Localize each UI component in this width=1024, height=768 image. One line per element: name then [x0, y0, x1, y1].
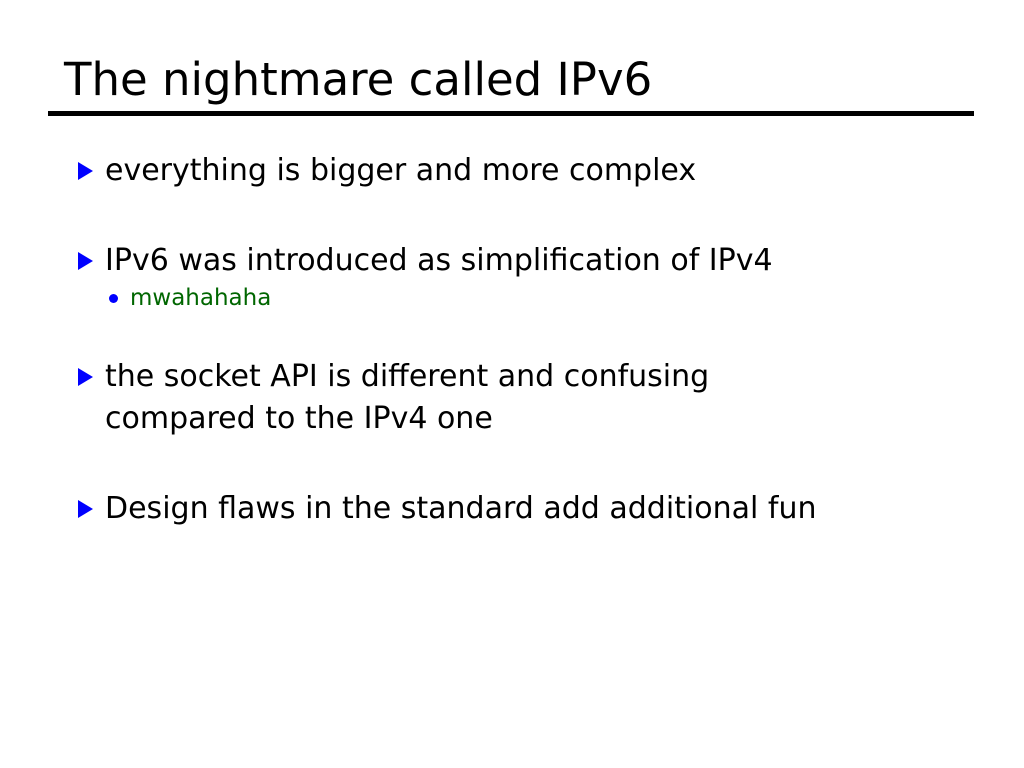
- dot-icon: [109, 294, 118, 303]
- list-item-label: Design flaws in the standard add additio…: [105, 488, 1024, 530]
- spacer: [0, 314, 1024, 356]
- list-item: the socket API is different and confusin…: [0, 356, 1024, 440]
- list-item: IPv6 was introduced as simplification of…: [0, 240, 1024, 282]
- list-item-label: the socket API is different and confusin…: [105, 356, 1024, 440]
- list-item: everything is bigger and more complex: [0, 150, 1024, 192]
- triangle-right-icon: [78, 500, 93, 518]
- page-title: The nightmare called IPv6: [64, 52, 652, 108]
- spacer: [0, 192, 1024, 240]
- list-item-label: IPv6 was introduced as simplification of…: [105, 240, 1024, 282]
- spacer: [0, 440, 1024, 488]
- list-item-label: everything is bigger and more complex: [105, 150, 1024, 192]
- sub-list-item-label: mwahahaha: [130, 282, 1024, 314]
- sub-list-item: mwahahaha: [0, 282, 1024, 314]
- slide-canvas: The nightmare called IPv6 everything is …: [0, 0, 1024, 768]
- triangle-right-icon: [78, 368, 93, 386]
- slide-body: everything is bigger and more complex IP…: [0, 150, 1024, 530]
- triangle-right-icon: [78, 162, 93, 180]
- title-divider: [48, 111, 974, 116]
- list-item: Design flaws in the standard add additio…: [0, 488, 1024, 530]
- triangle-right-icon: [78, 252, 93, 270]
